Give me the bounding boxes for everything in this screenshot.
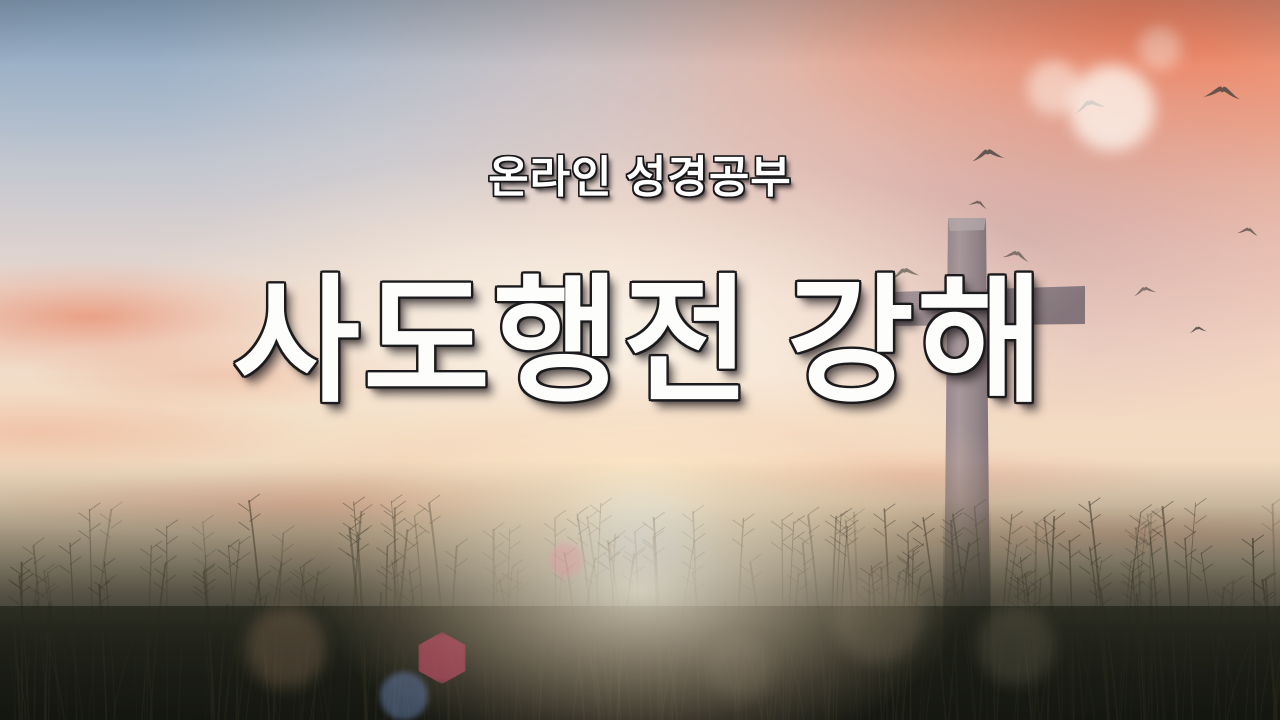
grass-seed-head <box>37 592 48 600</box>
grass-seed-head <box>809 525 820 533</box>
grass-seed-head <box>900 565 911 573</box>
grass-seed-head <box>238 503 249 511</box>
grass-seed-head <box>11 567 22 575</box>
grass-seed-head <box>26 585 37 593</box>
grass-stem <box>1185 538 1193 720</box>
grass-seed-head <box>782 533 793 541</box>
grass-stem <box>1020 557 1033 720</box>
grass-seed-head <box>861 568 872 576</box>
grass-seed-head <box>19 570 30 578</box>
grass-stem <box>997 514 1012 720</box>
grass-stem <box>640 628 645 720</box>
grass-seed-head <box>739 565 750 573</box>
grass-seed-head <box>387 538 398 546</box>
grass-stem <box>236 629 240 720</box>
grass-seed-head <box>1141 505 1152 513</box>
grass-stem <box>218 604 227 720</box>
grass-seed-head <box>391 495 402 503</box>
grass-seed-head <box>396 551 407 559</box>
grass-seed-head <box>751 572 762 580</box>
grass-seed-head <box>1101 598 1112 606</box>
grass-seed-head <box>1151 509 1162 517</box>
grass-seed-head <box>599 561 610 569</box>
grass-seed-head <box>642 542 653 550</box>
grass-seed-head <box>1253 535 1264 543</box>
grass-stem <box>179 647 182 720</box>
grass-seed-head <box>381 504 392 512</box>
grass-seed-head <box>229 545 240 553</box>
grass-seed-head <box>1132 564 1143 572</box>
grass-seed-head <box>604 554 615 562</box>
grass-seed-head <box>483 531 494 539</box>
grass-seed-head <box>409 566 420 574</box>
lens-flare <box>549 543 583 577</box>
grass-seed-head <box>1058 543 1069 551</box>
grass-stem <box>376 592 382 720</box>
grass-stem <box>485 614 486 720</box>
grass-seed-head <box>923 513 934 521</box>
grass-stem <box>536 625 545 720</box>
grass-stem <box>260 563 281 720</box>
grass-seed-head <box>908 545 919 553</box>
grass-seed-head <box>22 574 33 582</box>
grass-seed-head <box>544 538 555 546</box>
grass-stem <box>1183 503 1196 720</box>
grass-seed-head <box>249 494 260 502</box>
grass-seed-head <box>395 501 406 509</box>
grass-stem <box>782 519 784 720</box>
grass-stem <box>672 540 694 720</box>
grass-stem <box>1137 593 1145 720</box>
grass-stem <box>658 612 661 720</box>
grass-seed-head <box>203 532 214 540</box>
grass-seed-head <box>1014 576 1025 584</box>
grass-seed-head <box>609 536 620 544</box>
grass-seed-head <box>797 518 808 526</box>
grass-seed-head <box>565 548 576 556</box>
grass-seed-head <box>484 567 495 575</box>
grass-stem <box>348 511 362 720</box>
grass-seed-head <box>204 579 215 587</box>
grass-seed-head <box>37 575 48 583</box>
grass-seed-head <box>407 543 418 551</box>
grass-seed-head <box>339 533 350 541</box>
grass-stem <box>881 567 887 720</box>
grass-stem <box>1147 631 1156 720</box>
grass-seed-head <box>964 513 975 521</box>
grass-stem <box>249 500 269 720</box>
grass-seed-head <box>1201 546 1212 554</box>
grass-stem <box>313 597 324 720</box>
grass-stem <box>833 514 841 720</box>
grass-seed-head <box>854 527 865 535</box>
grass-seed-head <box>350 532 361 540</box>
grass-seed-head <box>1012 511 1023 519</box>
grass-stem <box>635 531 642 720</box>
grass-seed-head <box>897 576 908 584</box>
grass-stem <box>147 545 152 720</box>
grass-seed-head <box>1242 539 1253 547</box>
grass-stem <box>397 597 413 720</box>
grass-seed-head <box>510 541 521 549</box>
grass-stem <box>358 532 368 720</box>
grass-seed-head <box>635 546 646 554</box>
grass-seed-head <box>562 582 573 590</box>
grass-seed-head <box>957 564 968 572</box>
grass-seed-head <box>608 536 619 544</box>
grass-stem <box>365 647 366 720</box>
grass-seed-head <box>869 567 880 575</box>
grass-seed-head <box>272 556 283 564</box>
grass-stem <box>4 615 16 720</box>
grass-seed-head <box>218 550 229 558</box>
grass-stem <box>818 625 829 720</box>
grass-seed-head <box>590 523 601 531</box>
grass-seed-head <box>1184 525 1195 533</box>
grass-stem <box>45 633 65 720</box>
sun-core <box>519 453 763 675</box>
grass-seed-head <box>808 507 819 515</box>
grass-stem <box>89 509 112 720</box>
grass-seed-head <box>404 519 415 527</box>
grass-seed-head <box>920 588 931 596</box>
grass-stem <box>228 545 238 720</box>
grass-seed-head <box>343 503 354 511</box>
grass-seed-head <box>1146 520 1157 528</box>
grass-seed-head <box>874 528 885 536</box>
grass-seed-head <box>283 526 294 534</box>
grass-seed-head <box>48 586 59 594</box>
lens-flare <box>380 672 428 720</box>
grass-seed-head <box>1212 612 1223 620</box>
grass-stem <box>993 620 994 720</box>
grass-seed-head <box>554 574 565 582</box>
grass-seed-head <box>836 511 847 519</box>
grass-seed-head <box>399 593 410 601</box>
grass-seed-head <box>975 500 986 508</box>
grass-seed-head <box>693 524 704 532</box>
grass-stem <box>1253 538 1256 720</box>
grass-seed-head <box>1147 509 1158 517</box>
grass-stem <box>980 619 987 720</box>
grass-seed-head <box>26 603 37 611</box>
grass-seed-head <box>1202 564 1213 572</box>
grass-seed-head <box>913 562 924 570</box>
grass-stem <box>1074 608 1083 720</box>
grass-stem <box>1162 506 1177 720</box>
grass-stem <box>827 635 841 720</box>
grass-stem <box>1222 636 1236 720</box>
grass-seed-head <box>951 533 962 541</box>
grass-seed-head <box>99 581 110 589</box>
grass-stem <box>70 630 83 720</box>
grass-seed-head <box>624 536 635 544</box>
grass-seed-head <box>608 552 619 560</box>
grass-seed-head <box>1090 607 1101 615</box>
grass-seed-head <box>1252 581 1263 589</box>
grass-seed-head <box>1263 592 1274 600</box>
grass-seed-head <box>1041 571 1052 579</box>
grass-seed-head <box>376 570 387 578</box>
grass-stem <box>724 601 741 720</box>
grass-stem <box>1266 579 1275 720</box>
grass-stem <box>1149 513 1151 720</box>
grass-seed-head <box>9 597 20 605</box>
grass-stem <box>789 572 799 720</box>
grass-seed-head <box>396 532 407 540</box>
grass-seed-head <box>229 539 240 547</box>
grass-seed-head <box>1150 531 1161 539</box>
grass-stem <box>1090 547 1108 720</box>
grass-stem <box>516 569 517 720</box>
grass-stem <box>854 512 861 720</box>
grass-seed-head <box>1134 570 1145 578</box>
grass-seed-head <box>195 577 206 585</box>
grass-seed-head <box>140 567 151 575</box>
grass-stem <box>14 648 27 720</box>
grass-seed-head <box>484 588 495 596</box>
grass-stem <box>750 562 768 720</box>
grass-seed-head <box>392 556 403 564</box>
grass-seed-head <box>771 542 782 550</box>
grass-seed-head <box>921 569 932 577</box>
grass-seed-head <box>1191 573 1202 581</box>
grass-seed-head <box>281 558 292 566</box>
grass-stem <box>1035 578 1041 720</box>
grass-seed-head <box>22 558 33 566</box>
grass-stem <box>104 562 115 720</box>
grass-seed-head <box>88 587 99 595</box>
grass-stem <box>564 552 584 720</box>
grass-seed-head <box>1043 520 1054 528</box>
grass-stem <box>366 608 378 720</box>
grass-stem <box>693 511 699 720</box>
grass-seed-head <box>167 536 178 544</box>
grass-stem <box>1125 559 1134 720</box>
grass-stem <box>300 567 322 720</box>
grass-stem <box>926 588 948 720</box>
grass-seed-head <box>682 514 693 522</box>
grass-stem <box>1132 571 1141 720</box>
grass-seed-head <box>1123 581 1134 589</box>
grass-stem <box>1136 527 1146 720</box>
grass-seed-head <box>908 525 919 533</box>
grass-seed-head <box>1184 508 1195 516</box>
grass-seed-head <box>969 553 980 561</box>
grass-seed-head <box>1136 539 1147 547</box>
grass-seed-head <box>792 547 803 555</box>
grass-seed-head <box>45 584 56 592</box>
grass-seed-head <box>583 577 594 585</box>
grass-seed-head <box>518 582 529 590</box>
grass-seed-head <box>771 521 782 529</box>
grass-seed-head <box>693 565 704 573</box>
grass-stem <box>210 625 212 720</box>
grass-stem <box>224 615 243 720</box>
grass-seed-head <box>392 571 403 579</box>
grass-seed-head <box>1010 560 1021 568</box>
grass-stem <box>246 596 267 720</box>
grass-seed-head <box>794 516 805 524</box>
grass-stem <box>393 529 408 720</box>
grass-seed-head <box>1253 551 1264 559</box>
grass-seed-head <box>90 523 101 531</box>
grass-seed-head <box>48 565 59 573</box>
grass-seed-head <box>635 524 646 532</box>
grass-seed-head <box>940 526 951 534</box>
grass-seed-head <box>293 569 304 577</box>
grass-stem <box>786 642 804 720</box>
grass-seed-head <box>869 585 880 593</box>
grass-seed-head <box>1152 589 1163 597</box>
grass-seed-head <box>89 608 100 616</box>
grass-seed-head <box>100 514 111 522</box>
grass-seed-head <box>555 528 566 536</box>
grass-stem <box>448 546 457 720</box>
grass-stem <box>24 580 37 720</box>
grass-seed-head <box>551 590 562 598</box>
grass-seed-head <box>897 558 908 566</box>
grass-seed-head <box>830 536 841 544</box>
grass-seed-head <box>567 519 578 527</box>
grass-seed-head <box>577 538 588 546</box>
grass-seed-head <box>445 565 456 573</box>
grass-seed-head <box>869 587 880 595</box>
grass-seed-head <box>1044 510 1055 518</box>
grass-stem <box>874 602 896 720</box>
grass-seed-head <box>909 599 920 607</box>
grass-stem <box>786 521 794 720</box>
bokeh-circle <box>243 605 329 691</box>
grass-seed-head <box>59 546 70 554</box>
grass-seed-head <box>847 520 858 528</box>
grass-seed-head <box>1079 552 1090 560</box>
grass-seed-head <box>835 540 846 548</box>
grass-seed-head <box>587 511 598 519</box>
grass-seed-head <box>384 511 395 519</box>
grass-seed-head <box>304 576 315 584</box>
grass-stems <box>0 420 1280 720</box>
grass-seed-head <box>500 595 511 603</box>
grass-seed-head <box>1266 573 1277 581</box>
grass-seed-head <box>1012 526 1023 534</box>
grass-seed-head <box>788 575 799 583</box>
grass-seed-head <box>803 557 814 565</box>
grass-seed-head <box>624 551 635 559</box>
grass-seed-head <box>457 539 468 547</box>
grass-stem <box>274 533 283 720</box>
grass-seed-head <box>912 522 923 530</box>
grass-seed-head <box>354 497 365 505</box>
grass-seed-head <box>1070 550 1081 558</box>
grass-stem <box>303 646 310 720</box>
grass-stem <box>415 516 430 720</box>
grass-seed-head <box>501 573 512 581</box>
grass-seed-head <box>79 531 90 539</box>
grass-seed-head <box>694 552 705 560</box>
grass-seed-head <box>392 511 403 519</box>
grass-seed-head <box>836 526 847 534</box>
grass-seed-head <box>588 528 599 536</box>
grass-seed-head <box>872 577 883 585</box>
grass-seed-head <box>1029 601 1040 609</box>
grass-stem <box>599 644 612 720</box>
grass-stem <box>646 642 651 720</box>
grass-seed-head <box>167 520 178 528</box>
grass-seed-head <box>953 567 964 575</box>
grass-seed-head <box>37 576 48 584</box>
grass-seed-head <box>1123 561 1134 569</box>
grass-seed-head <box>229 559 240 567</box>
grass-seed-head <box>1030 582 1041 590</box>
grass-seed-head <box>1152 572 1163 580</box>
grass-stem <box>391 501 405 720</box>
grass-seed-head <box>951 513 962 521</box>
grass-stem <box>1023 630 1032 720</box>
grass-seed-head <box>419 526 430 534</box>
grass-seed-head <box>1148 526 1159 534</box>
grass-seed-head <box>953 528 964 536</box>
grass-seed-head <box>1018 606 1029 614</box>
grass-stem <box>1025 574 1039 720</box>
grass-seed-head <box>803 535 814 543</box>
grass-seed-head <box>354 513 365 521</box>
grass-stem <box>238 578 260 720</box>
grass-seed-head <box>1059 561 1070 569</box>
grass-seed-head <box>79 513 90 521</box>
grass-seed-head <box>1140 560 1151 568</box>
grass-seed-head <box>732 520 743 528</box>
grass-seed-head <box>1174 560 1185 568</box>
grass-seed-head <box>544 523 555 531</box>
grass-seed-head <box>1213 590 1224 598</box>
grass-seed-head <box>33 538 44 546</box>
grass-seed-head <box>975 518 986 526</box>
grass-stem <box>89 509 93 720</box>
grass-seed-head <box>418 504 429 512</box>
grass-stem <box>506 529 510 720</box>
bokeh-circle <box>974 604 1058 688</box>
grass-seed-head <box>44 564 55 572</box>
grass-stem <box>64 649 67 720</box>
grass-seed-head <box>908 569 919 577</box>
grass-stem <box>1260 598 1280 720</box>
grass-stem <box>869 590 875 720</box>
grass-seed-head <box>1036 534 1047 542</box>
grass-seed-head <box>1151 525 1162 533</box>
grass-seed-head <box>457 559 468 567</box>
grass-seed-head <box>260 570 271 578</box>
grass-seed-head <box>858 596 869 604</box>
grass-seed-head <box>194 586 205 594</box>
grass-seed-head <box>654 512 665 520</box>
grass-seed-head <box>897 534 908 542</box>
grass-stem <box>608 540 621 720</box>
grass-stem <box>663 624 677 720</box>
grass-stem <box>803 543 814 720</box>
grass-seed-head <box>783 543 794 551</box>
grass-seed-head <box>958 546 969 554</box>
grass-seed-head <box>1122 593 1133 601</box>
grass-seed-head <box>501 590 512 598</box>
grass-seed-head <box>195 558 206 566</box>
grass-seed-head <box>156 529 167 537</box>
grass-stem <box>1213 588 1224 720</box>
grass-seed-head <box>1017 539 1028 547</box>
grass-seed-head <box>270 583 281 591</box>
grass-seed-head <box>23 547 34 555</box>
grass-seed-head <box>1152 511 1163 519</box>
